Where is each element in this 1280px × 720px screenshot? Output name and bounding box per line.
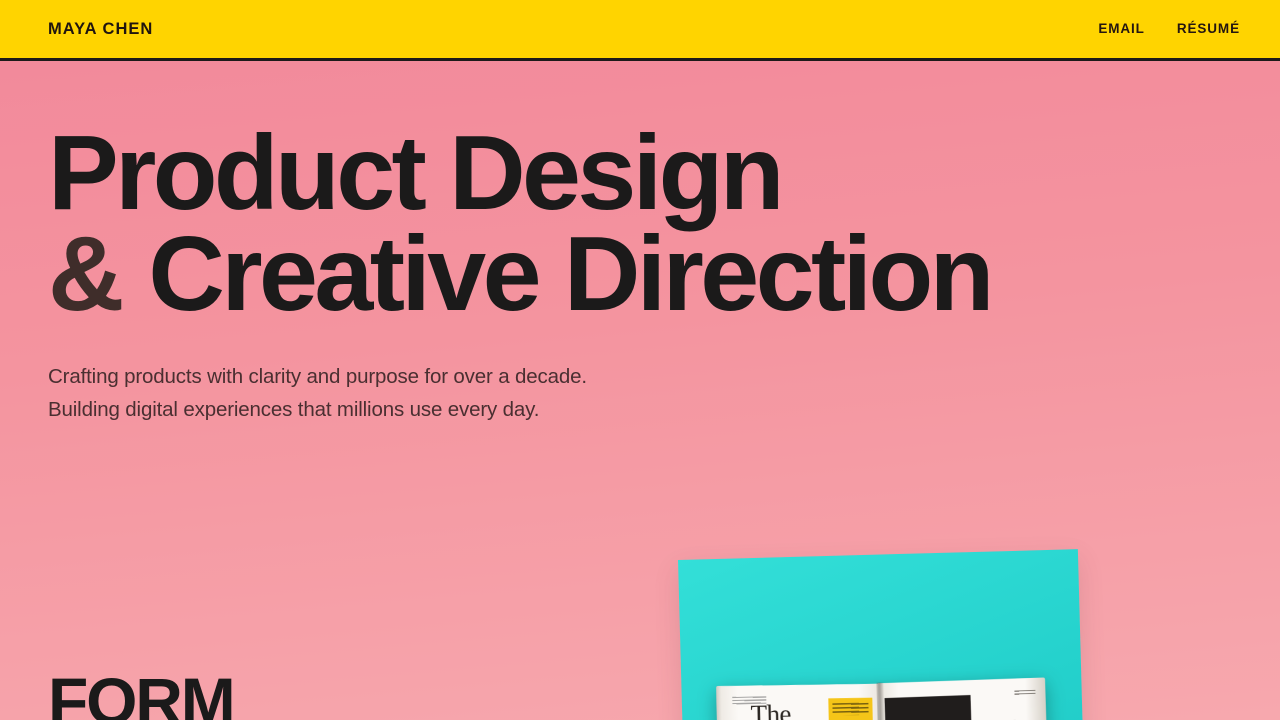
magazine-atom-illustration	[977, 716, 1039, 720]
magazine-page-left: The ZIN	[716, 684, 882, 720]
magazine-title-the: The	[750, 701, 791, 720]
hero-heading-ampersand: &	[48, 215, 123, 333]
hero-section: Product Design & Creative Direction Craf…	[0, 61, 1280, 426]
section-heading-form: FORM	[48, 668, 234, 720]
magazine-yellow-sidebar	[828, 698, 875, 720]
hero-subtitle-line-2: Building digital experiences that millio…	[48, 394, 1280, 426]
nav-link-resume[interactable]: RÉSUMÉ	[1177, 22, 1240, 36]
hero-heading-line-1: Product Design	[48, 123, 1098, 224]
hero-heading: Product Design & Creative Direction	[48, 123, 1098, 325]
magazine-page-right	[878, 677, 1050, 720]
site-header: MAYA CHEN EMAIL RÉSUMÉ	[0, 0, 1280, 61]
hero-heading-line-2-wrapper: & Creative Direction	[48, 224, 1098, 325]
main-nav: EMAIL RÉSUMÉ	[1098, 22, 1240, 36]
nav-link-email[interactable]: EMAIL	[1098, 22, 1145, 36]
magazine-sidebar-heading-lines	[832, 703, 868, 716]
magazine-dark-illustration-plate	[885, 695, 976, 720]
hero-subtitle: Crafting products with clarity and purpo…	[48, 361, 1280, 426]
hero-heading-line-2: Creative Direction	[148, 215, 990, 333]
work-photo-magazine[interactable]: The ZIN	[678, 549, 1086, 720]
hero-subtitle-line-1: Crafting products with clarity and purpo…	[48, 361, 1280, 393]
magazine-spread: The ZIN	[715, 678, 1050, 720]
brand-name[interactable]: MAYA CHEN	[48, 21, 153, 38]
magazine-page-number	[1014, 690, 1035, 696]
